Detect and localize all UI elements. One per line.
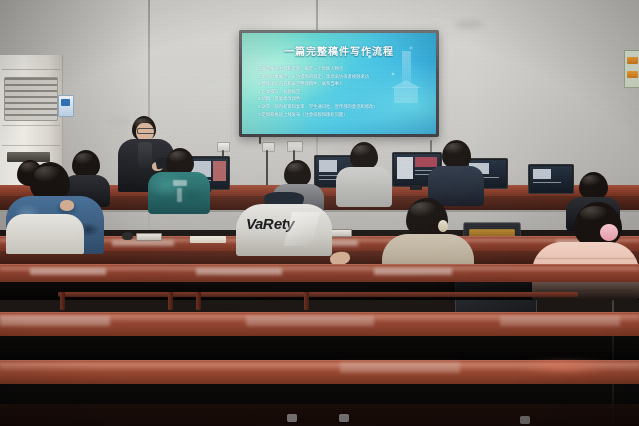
puffer-seam xyxy=(536,258,635,259)
jacket-stripe xyxy=(177,188,182,202)
presentation-display[interactable]: 一篇完整稿件写作流程 1.确定报道主题和选题，确定一个新闻人物点 2.采访对象确… xyxy=(239,30,439,137)
desk-hardware xyxy=(339,414,349,422)
desk-nameplate xyxy=(136,233,162,241)
desk-reflection xyxy=(374,268,452,275)
desk-reflection xyxy=(0,316,110,326)
hair-highlight xyxy=(169,151,189,163)
audience-member xyxy=(428,140,484,202)
audience-member xyxy=(382,198,474,268)
wall-outlet[interactable] xyxy=(287,141,303,152)
monitor-stand xyxy=(410,185,422,190)
desk-reflection xyxy=(340,362,460,373)
desk-reflection xyxy=(246,316,374,326)
desk-reflection xyxy=(500,316,620,326)
wall-mark xyxy=(455,20,483,29)
rail-post xyxy=(196,292,201,310)
audience-white-layer xyxy=(6,214,84,254)
jacket-logo xyxy=(173,180,187,186)
wall-sticker xyxy=(58,95,74,117)
hair-highlight xyxy=(582,175,602,187)
desk-row-4-shadow xyxy=(0,336,639,362)
panel-line xyxy=(2,145,60,146)
foreground-floor-shadow xyxy=(0,404,639,426)
rail-post xyxy=(60,292,65,310)
panel-line xyxy=(2,125,60,126)
hair-clip xyxy=(438,220,448,232)
rail-post xyxy=(168,292,173,310)
wall-outlet[interactable] xyxy=(262,142,275,152)
slide-screen: 一篇完整稿件写作流程 1.确定报道主题和选题，确定一个新闻人物点 2.采访对象确… xyxy=(242,33,436,134)
audience-member xyxy=(336,142,392,204)
desk-reflection xyxy=(196,268,282,275)
glasses-icon xyxy=(137,128,155,134)
hair-clip xyxy=(600,224,618,241)
power-cable xyxy=(266,150,268,190)
sign-bar xyxy=(627,57,638,64)
paper-document xyxy=(190,236,226,243)
hand xyxy=(60,200,74,211)
hair-highlight xyxy=(353,145,373,157)
screen-vignette xyxy=(242,33,436,134)
hair-highlight xyxy=(34,166,62,183)
desk-specular xyxy=(520,360,610,374)
hair-highlight xyxy=(287,163,306,174)
desk-hardware xyxy=(520,416,530,424)
wall-sign xyxy=(624,50,639,88)
audience-member xyxy=(148,148,210,212)
rail-post xyxy=(304,292,309,310)
hair-highlight xyxy=(580,206,610,222)
classroom-photo: 一篇完整稿件写作流程 1.确定报道主题和选题，确定一个新闻人物点 2.采访对象确… xyxy=(0,0,639,426)
seat-rail xyxy=(58,292,578,297)
hair-highlight xyxy=(445,143,466,155)
desk-reflection xyxy=(30,268,106,275)
hair-highlight xyxy=(410,202,438,218)
audience-member: VaR ety xyxy=(236,192,332,256)
computer-mouse[interactable] xyxy=(122,232,133,240)
panel-line xyxy=(2,69,60,70)
sign-bar xyxy=(627,71,638,78)
air-conditioner-grill xyxy=(4,77,58,121)
desk-row-3-shadow xyxy=(0,282,639,300)
desk-hardware xyxy=(287,414,297,422)
